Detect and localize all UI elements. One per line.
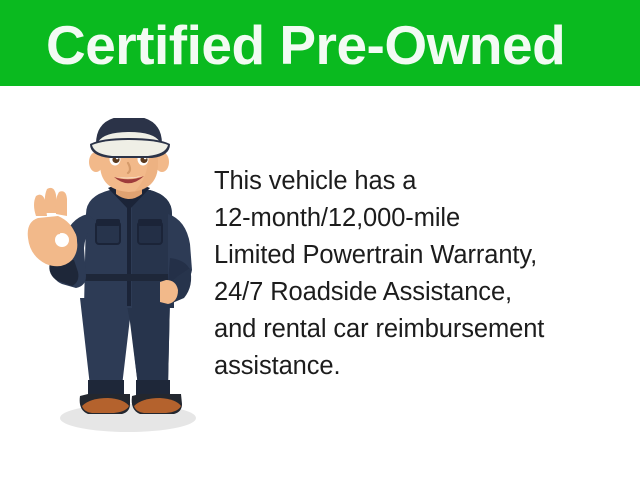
mechanic-illustration xyxy=(18,118,218,438)
body-line: 12-month/12,000-mile xyxy=(214,200,632,237)
mechanic-ok-gesture-icon xyxy=(18,118,218,438)
body-line: assistance. xyxy=(214,348,632,385)
body-line: This vehicle has a xyxy=(214,163,632,200)
body-line: 24/7 Roadside Assistance, xyxy=(214,274,632,311)
body-line: Limited Powertrain Warranty, xyxy=(214,237,632,274)
ok-hand-gesture-icon xyxy=(28,188,78,266)
header-banner: Certified Pre-Owned xyxy=(0,0,640,86)
warranty-description: This vehicle has a 12-month/12,000-mile … xyxy=(214,163,632,385)
body-line: and rental car reimbursement xyxy=(214,311,632,348)
page-title: Certified Pre-Owned xyxy=(46,10,606,80)
slide-canvas: Certified Pre-Owned xyxy=(0,0,640,480)
